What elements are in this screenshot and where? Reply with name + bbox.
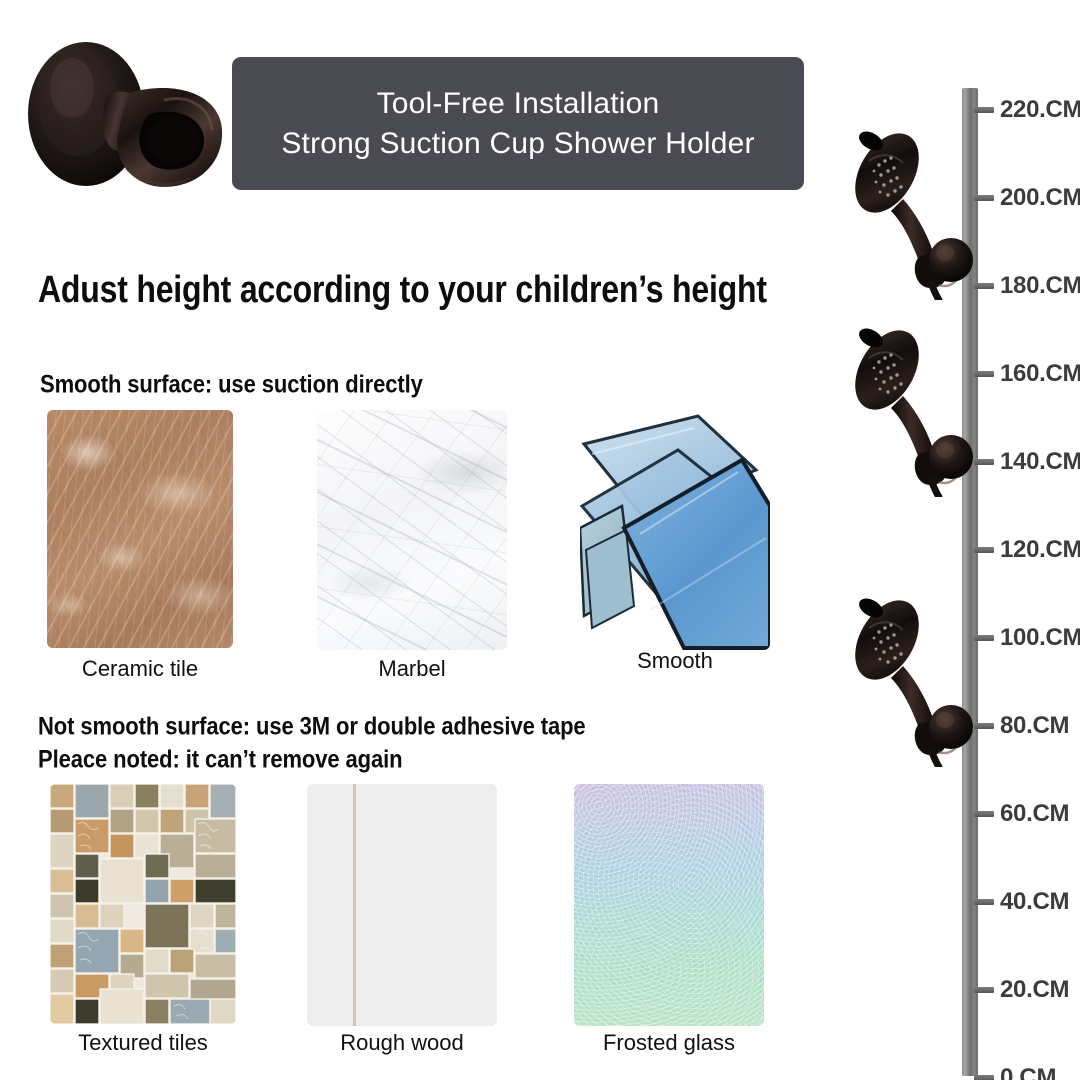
tick-mark-icon [974, 371, 994, 377]
swatch-label-smooth: Smooth [637, 648, 713, 674]
tick-mark-icon [974, 1075, 994, 1080]
ruler-tick-label: 180.CM [1000, 272, 1080, 300]
swatch-label-marbel: Marbel [378, 656, 445, 682]
ruler-tick-label: 140.CM [1000, 448, 1080, 476]
tick-mark-icon [974, 635, 994, 641]
ruler-tick-label: 80.CM [1000, 712, 1069, 740]
glass-panes-image [580, 410, 770, 650]
ruler-tick-label: 160.CM [1000, 360, 1080, 388]
swatch-label-rough-wood: Rough wood [340, 1030, 464, 1056]
tick-mark-icon [974, 107, 994, 113]
swatch-label-frosted-glass: Frosted glass [603, 1030, 735, 1056]
shower-head-mount-top [845, 125, 977, 300]
banner-line-1: Tool-Free Installation [377, 85, 660, 123]
shower-head-mount-bottom [845, 592, 977, 767]
swatch-label-textured-tiles: Textured tiles [78, 1030, 208, 1056]
ruler-tick-label: 120.CM [1000, 536, 1080, 564]
not-smooth-surface-heading: Not smooth surface: use 3M or double adh… [38, 712, 586, 741]
ruler-tick-label: 220.CM [1000, 96, 1080, 124]
surface-swatch-textured-tiles: Textured tiles [50, 784, 236, 1024]
ceramic-tile-texture [47, 410, 233, 648]
surface-swatch-smooth-glass: Smooth [580, 410, 770, 650]
ruler-tick-label: 20.CM [1000, 976, 1069, 1004]
marble-texture [317, 410, 507, 650]
smooth-surface-heading: Smooth surface: use suction directly [40, 370, 423, 399]
product-hero-image [14, 22, 226, 210]
frosted-glass-texture [574, 784, 764, 1026]
tick-mark-icon [974, 899, 994, 905]
surface-swatch-frosted-glass: Frosted glass [574, 784, 764, 1026]
ruler-tick-label: 0.CM [1000, 1064, 1056, 1080]
tick-mark-icon [974, 811, 994, 817]
tick-mark-icon [974, 987, 994, 993]
surface-swatch-ceramic-tile: Ceramic tile [47, 410, 233, 648]
tick-mark-icon [974, 459, 994, 465]
infographic-page: Tool-Free Installation Strong Suction Cu… [0, 0, 1080, 1080]
swatch-label-ceramic-tile: Ceramic tile [82, 656, 198, 682]
surface-swatch-rough-wood: Rough wood [307, 784, 497, 1026]
headline-banner: Tool-Free Installation Strong Suction Cu… [232, 57, 804, 190]
mosaic-tiles-texture [50, 784, 236, 1024]
wood-grain-texture [307, 784, 497, 1026]
ruler-tick-label: 200.CM [1000, 184, 1080, 212]
surface-swatch-marbel: Marbel [317, 410, 507, 650]
shower-head-mount-middle [845, 322, 977, 497]
main-heading: Adust height according to your children’… [38, 268, 898, 312]
banner-line-2: Strong Suction Cup Shower Holder [281, 125, 754, 163]
ruler-tick-label: 40.CM [1000, 888, 1069, 916]
tick-mark-icon [974, 547, 994, 553]
not-smooth-surface-note: Pleace noted: it can’t remove again [38, 745, 403, 774]
ruler-tick-label: 100.CM [1000, 624, 1080, 652]
tick-mark-icon [974, 195, 994, 201]
tick-mark-icon [974, 283, 994, 289]
tick-mark-icon [974, 723, 994, 729]
wood-plank-seam [353, 784, 356, 1026]
ruler-tick-label: 60.CM [1000, 800, 1069, 828]
